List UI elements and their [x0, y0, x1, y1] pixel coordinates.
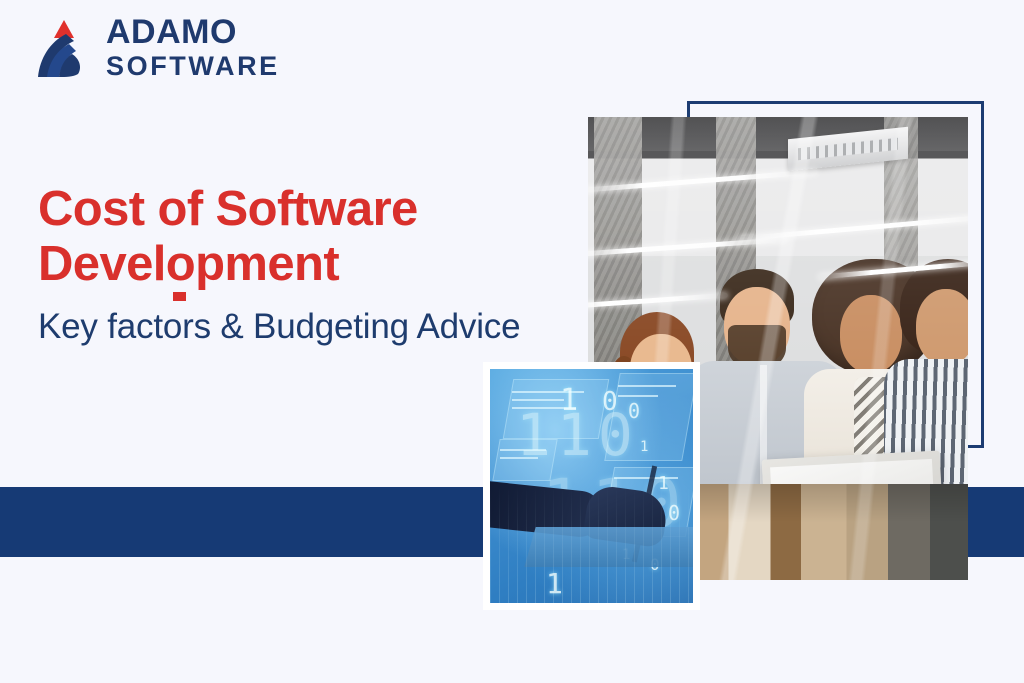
headline-line-2: Development [38, 237, 578, 292]
hud-line [618, 385, 676, 387]
headline-line-1: Cost of Software [38, 182, 578, 237]
code-photo: 110 110 0 0 1 1 1 0 1 0 1 1 0 [490, 369, 693, 603]
page-title: Cost of Software Development [38, 182, 578, 292]
hud-line [618, 395, 658, 397]
face [916, 289, 968, 365]
hero-copy: Cost of Software Development Key factors… [38, 182, 578, 348]
binary-rain [490, 485, 693, 603]
banner-root: ADAMO SOFTWARE Cost of Software Developm… [0, 0, 1024, 683]
brand-name-primary: ADAMO [106, 15, 280, 49]
binary-digit: 1 [640, 439, 648, 455]
adamo-a-swoosh-mark [36, 14, 92, 80]
binary-digit: 0 [602, 387, 618, 417]
brand-logo[interactable]: ADAMO SOFTWARE [36, 14, 280, 80]
code-photo-frame: 110 110 0 0 1 1 1 0 1 0 1 1 0 [483, 362, 700, 610]
binary-digit: 0 [628, 399, 640, 423]
page-subtitle: Key factors & Budgeting Advice [38, 306, 578, 348]
binary-digit: 1 [560, 383, 578, 418]
brand-name-secondary: SOFTWARE [106, 53, 280, 80]
brand-wordmark: ADAMO SOFTWARE [106, 15, 280, 80]
red-accent-dot [173, 292, 186, 301]
